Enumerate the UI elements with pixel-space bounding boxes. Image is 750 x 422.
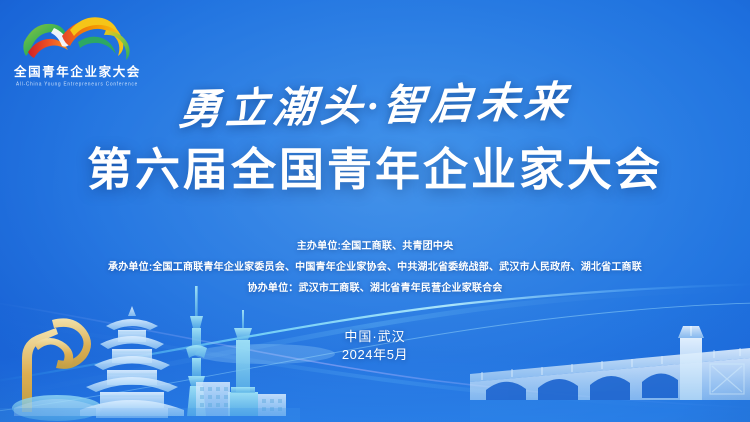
logo-english-name: All-China Young Entrepreneurs Conference	[14, 81, 140, 87]
organizer-line-coorganizer: 协办单位：武汉市工商联、湖北省青年民营企业家联合会	[0, 278, 750, 299]
conference-logo: 全国青年企业家大会 All-China Young Entrepreneurs …	[14, 12, 142, 94]
event-place-date: 中国·武汉 2024年5月	[0, 328, 750, 364]
organizer-line-undertaker: 承办单位:全国工商联青年企业家委员会、中国青年企业家协会、中共湖北省委统战部、武…	[0, 257, 750, 278]
event-place: 中国·武汉	[0, 328, 750, 346]
building-windows-icon	[200, 387, 282, 411]
logo-emblem-icon	[18, 12, 136, 64]
page-title: 第六届全国青年企业家大会	[0, 146, 750, 193]
organizer-list: 主办单位:全国工商联、共青团中央 承办单位:全国工商联青年企业家委员会、中国青年…	[0, 236, 750, 299]
event-date: 2024年5月	[0, 346, 750, 364]
organizer-line-host: 主办单位:全国工商联、共青团中央	[0, 236, 750, 257]
office-building-icon	[196, 382, 286, 416]
logo-chinese-name: 全国青年企业家大会	[14, 66, 140, 79]
conference-poster: 全国青年企业家大会 All-China Young Entrepreneurs …	[0, 0, 750, 422]
